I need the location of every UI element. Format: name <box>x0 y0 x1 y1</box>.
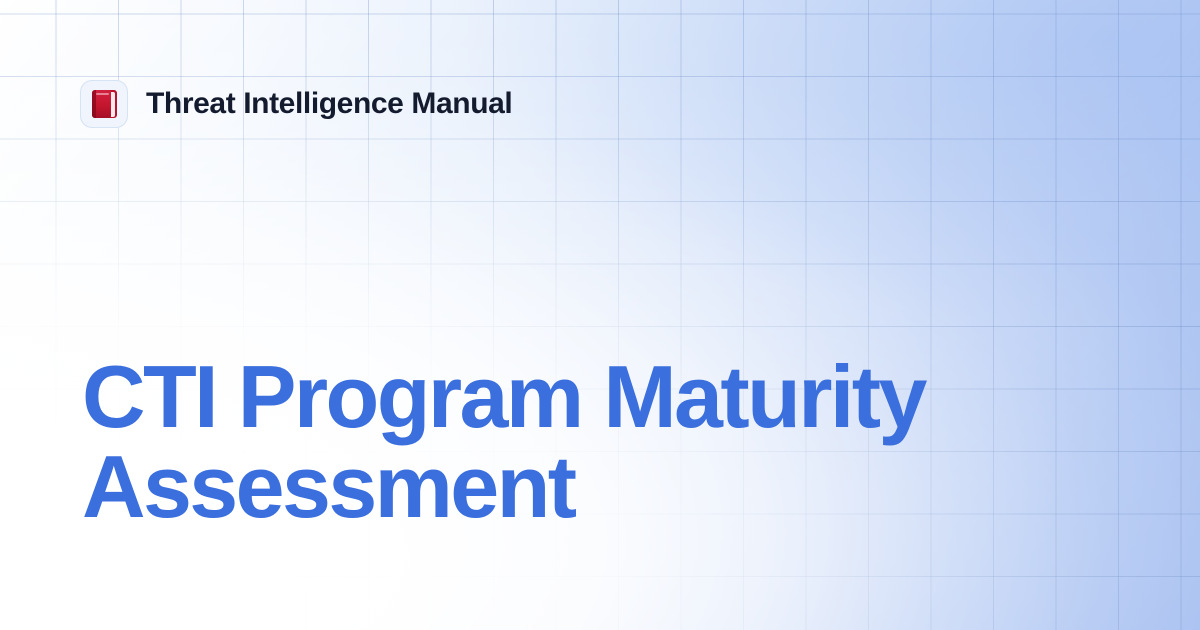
book-cover-highlight <box>96 93 109 95</box>
manual-header: Threat Intelligence Manual <box>80 80 512 128</box>
book-spine <box>92 90 96 118</box>
og-card: Threat Intelligence Manual CTI Program M… <box>0 0 1200 630</box>
manual-name-label: Threat Intelligence Manual <box>146 89 512 119</box>
card-content: Threat Intelligence Manual CTI Program M… <box>0 0 1200 630</box>
page-title: CTI Program Maturity Assessment <box>82 352 1072 532</box>
closed-book-icon <box>92 90 117 118</box>
manual-icon-badge <box>80 80 128 128</box>
